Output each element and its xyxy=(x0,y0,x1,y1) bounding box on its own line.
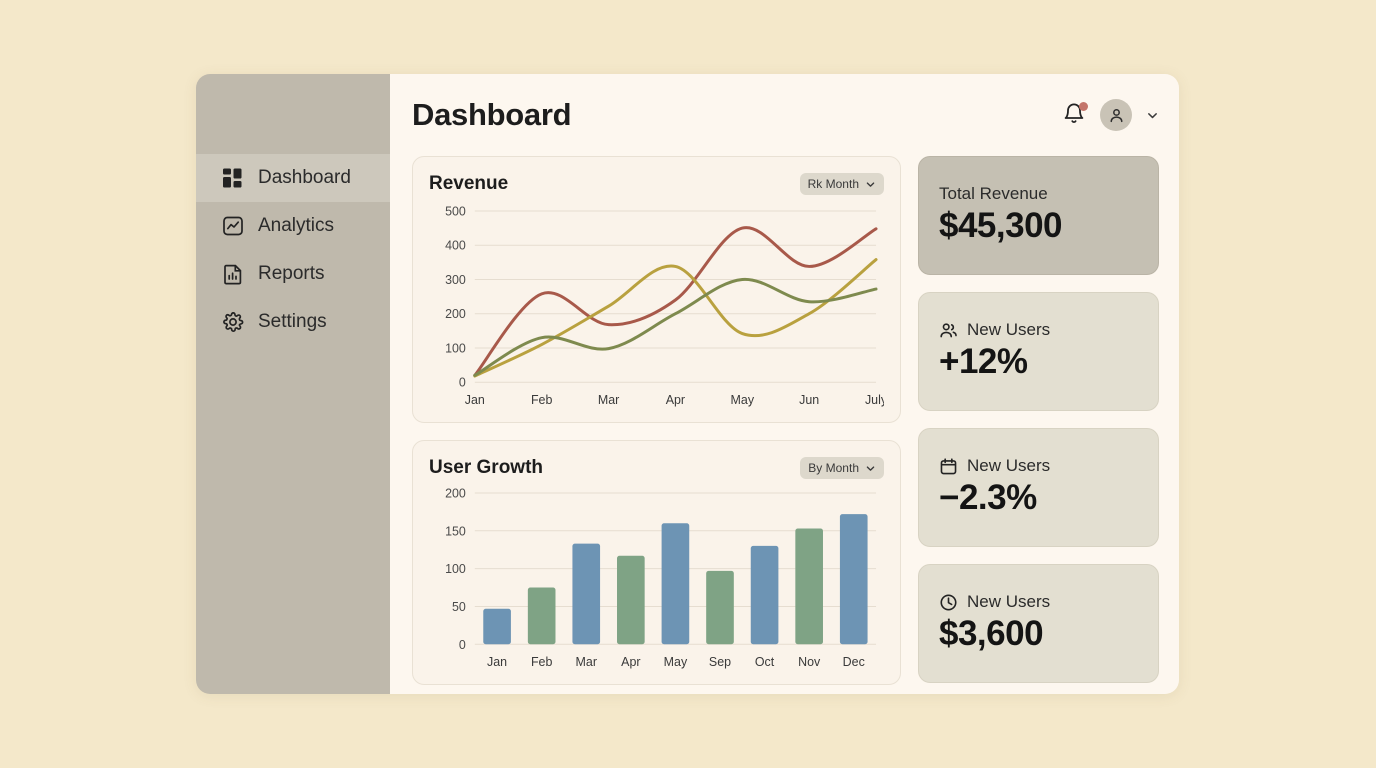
svg-text:Sep: Sep xyxy=(709,655,731,669)
report-doc-icon xyxy=(222,263,244,285)
revenue-period-value: Rk Month xyxy=(808,177,859,191)
user-growth-card: User Growth By Month 050100150200JanFebM… xyxy=(412,440,901,685)
user-growth-chart: 050100150200JanFebMarAprMaySepOctNovDec xyxy=(429,485,884,674)
svg-text:0: 0 xyxy=(459,638,466,652)
svg-text:Feb: Feb xyxy=(531,393,553,407)
chevron-down-icon[interactable] xyxy=(1146,109,1159,122)
svg-text:Feb: Feb xyxy=(531,655,553,669)
sidebar-item-analytics[interactable]: Analytics xyxy=(196,202,390,250)
svg-text:Jan: Jan xyxy=(487,655,507,669)
revenue-card-header: Revenue Rk Month xyxy=(429,173,884,195)
stat-card-new-users-amount: New Users $3,600 xyxy=(918,564,1159,683)
sidebar: Dashboard Analytics Repor xyxy=(196,74,390,694)
sidebar-item-label: Reports xyxy=(258,263,325,285)
page-title: Dashboard xyxy=(412,97,571,133)
avatar[interactable] xyxy=(1100,99,1132,131)
stat-value: $45,300 xyxy=(939,206,1138,246)
svg-text:Mar: Mar xyxy=(598,393,619,407)
svg-text:Apr: Apr xyxy=(621,655,640,669)
sidebar-item-settings[interactable]: Settings xyxy=(196,298,390,346)
grid-icon xyxy=(222,167,244,189)
svg-text:Jun: Jun xyxy=(799,393,819,407)
svg-text:100: 100 xyxy=(445,562,466,576)
notifications-button[interactable] xyxy=(1062,102,1086,128)
topbar-actions xyxy=(1062,99,1159,131)
svg-text:May: May xyxy=(731,393,755,407)
sidebar-item-label: Settings xyxy=(258,311,327,333)
charts-column: Revenue Rk Month 0100200300400500JanFebM… xyxy=(412,156,901,685)
revenue-card: Revenue Rk Month 0100200300400500JanFebM… xyxy=(412,156,901,423)
svg-text:May: May xyxy=(664,655,688,669)
svg-text:Oct: Oct xyxy=(755,655,775,669)
svg-text:400: 400 xyxy=(445,239,466,253)
stat-value: +12% xyxy=(939,342,1138,382)
svg-text:Apr: Apr xyxy=(666,393,685,407)
svg-text:500: 500 xyxy=(445,204,466,218)
svg-text:Dec: Dec xyxy=(843,655,865,669)
svg-text:300: 300 xyxy=(445,273,466,287)
user-growth-card-title: User Growth xyxy=(429,457,543,479)
svg-text:Jan: Jan xyxy=(465,393,485,407)
sidebar-item-dashboard[interactable]: Dashboard xyxy=(196,154,390,202)
revenue-period-dropdown[interactable]: Rk Month xyxy=(800,173,884,195)
svg-text:Nov: Nov xyxy=(798,655,821,669)
app-window: Dashboard Analytics Repor xyxy=(196,74,1179,694)
stat-card-new-users-decline: New Users −2.3% xyxy=(918,428,1159,547)
svg-text:July: July xyxy=(865,393,884,407)
svg-text:Mar: Mar xyxy=(576,655,597,669)
stat-label-text: Total Revenue xyxy=(939,184,1048,204)
users-icon xyxy=(939,321,958,340)
stat-value: −2.3% xyxy=(939,478,1138,518)
sidebar-item-label: Dashboard xyxy=(258,167,351,189)
svg-text:200: 200 xyxy=(445,307,466,321)
user-growth-period-value: By Month xyxy=(808,461,859,475)
revenue-chart: 0100200300400500JanFebMarAprMayJunJuly xyxy=(429,201,884,412)
sidebar-item-reports[interactable]: Reports xyxy=(196,250,390,298)
svg-text:150: 150 xyxy=(445,524,466,538)
user-icon xyxy=(1107,106,1126,125)
dashboard-grid: Revenue Rk Month 0100200300400500JanFebM… xyxy=(412,156,1159,685)
stat-value: $3,600 xyxy=(939,614,1138,654)
chevron-down-icon xyxy=(865,463,876,474)
svg-text:100: 100 xyxy=(445,341,466,355)
clock-icon xyxy=(939,593,958,612)
sidebar-item-label: Analytics xyxy=(258,215,334,237)
svg-text:200: 200 xyxy=(445,487,466,501)
chevron-down-icon xyxy=(865,179,876,190)
stat-label-text: New Users xyxy=(967,592,1050,612)
stat-label: New Users xyxy=(939,320,1138,340)
stats-column: Total Revenue $45,300 New Users xyxy=(918,156,1159,683)
stat-label-text: New Users xyxy=(967,320,1050,340)
main-content: Dashboard xyxy=(390,74,1179,694)
svg-text:50: 50 xyxy=(452,600,466,614)
user-growth-period-dropdown[interactable]: By Month xyxy=(800,457,884,479)
revenue-card-title: Revenue xyxy=(429,173,508,195)
gear-icon xyxy=(222,311,244,333)
stat-card-total-revenue: Total Revenue $45,300 xyxy=(918,156,1159,275)
user-growth-card-header: User Growth By Month xyxy=(429,457,884,479)
stat-label: New Users xyxy=(939,592,1138,612)
notification-dot xyxy=(1079,102,1088,111)
stat-card-new-users-percent: New Users +12% xyxy=(918,292,1159,411)
stat-label: Total Revenue xyxy=(939,184,1138,204)
stat-label-text: New Users xyxy=(967,456,1050,476)
calendar-icon xyxy=(939,457,958,476)
stat-label: New Users xyxy=(939,456,1138,476)
chart-square-icon xyxy=(222,215,244,237)
svg-text:0: 0 xyxy=(459,376,466,390)
topbar: Dashboard xyxy=(412,74,1159,156)
